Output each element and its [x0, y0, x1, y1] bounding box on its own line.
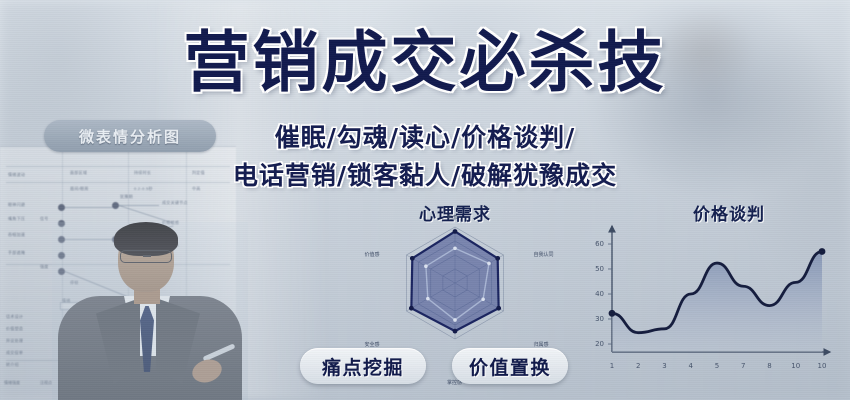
svg-text:8: 8	[767, 362, 771, 370]
radar-chart-svg	[340, 220, 570, 350]
svg-text:50: 50	[595, 265, 604, 273]
svg-text:10: 10	[818, 362, 827, 370]
subtitle-line-2: 电话营销/锁客黏人/破解犹豫成交	[0, 156, 850, 192]
tag-pain-point-label: 痛点挖掘	[322, 353, 404, 380]
page-title: 营销成交必杀技	[0, 30, 850, 96]
svg-text:40: 40	[595, 290, 604, 298]
presenter-photo	[52, 222, 248, 400]
svg-text:20: 20	[595, 340, 604, 348]
svg-text:5: 5	[715, 362, 719, 370]
svg-text:2: 2	[636, 362, 640, 370]
svg-text:10: 10	[791, 362, 800, 370]
line-chart: 价格谈判 6050403020 12345781010	[578, 200, 840, 380]
tag-value-exchange-label: 价值置换	[469, 353, 551, 380]
radar-label-1: 自我认同	[533, 251, 553, 258]
svg-text:3: 3	[662, 362, 666, 370]
svg-text:1: 1	[610, 362, 614, 370]
svg-text:30: 30	[595, 315, 604, 323]
line-chart-svg: 6050403020 12345781010	[578, 218, 840, 380]
radar-label-4: 安全感	[365, 341, 380, 348]
tag-value-exchange[interactable]: 价值置换	[452, 348, 568, 384]
svg-text:7: 7	[741, 362, 745, 370]
radar-label-2: 归属感	[533, 341, 548, 348]
radar-chart: 心理需求 焦虑 自我认同 归属感 掌控感 安全感 价值感	[340, 200, 570, 350]
tag-pain-point[interactable]: 痛点挖掘	[300, 348, 426, 384]
radar-label-5: 价值感	[365, 251, 380, 258]
marketing-banner: 情绪波动 面部区域 持续时长 判定值 眉间/眼周 0.2-0.5秒 中高 眼神闪…	[0, 0, 850, 400]
subtitle-line-1: 催眠/勾魂/读心/价格谈判/	[0, 118, 850, 154]
radar-label-0: 焦虑	[447, 214, 457, 221]
svg-text:60: 60	[595, 240, 604, 248]
svg-text:4: 4	[689, 362, 694, 370]
